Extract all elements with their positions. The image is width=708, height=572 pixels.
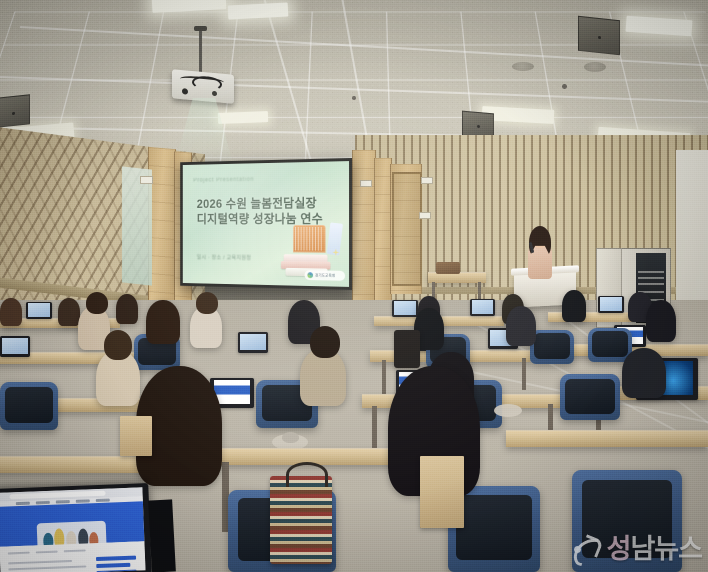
sprinkler-head <box>562 84 567 89</box>
recessed-fluorescent-light <box>218 111 268 124</box>
slide-kicker: Project Presentation <box>193 177 254 184</box>
desk <box>506 430 708 447</box>
attendee <box>116 294 138 324</box>
patterned-tote-bag <box>270 476 332 564</box>
attendee-head <box>310 326 340 358</box>
attendee <box>562 290 586 322</box>
laptop[interactable] <box>26 302 52 319</box>
wooden-box <box>436 262 460 274</box>
slide-badge-text: 경기도교육청 <box>315 273 335 278</box>
chair[interactable] <box>530 330 574 364</box>
attendee <box>646 300 676 342</box>
site-hero-banner <box>0 501 144 547</box>
laptop[interactable] <box>392 300 418 317</box>
slide-book-illustration: 경기도교육청 <box>272 221 343 279</box>
laptop[interactable] <box>598 296 624 313</box>
attendee-head <box>196 292 218 314</box>
page-icon <box>327 222 343 255</box>
projector-cable <box>192 75 222 92</box>
ceiling-vent <box>584 62 606 72</box>
mouse-pad <box>494 404 522 417</box>
desk-leg <box>372 406 377 450</box>
wall-sign <box>421 177 433 184</box>
paper-shopping-bag <box>120 416 152 456</box>
desk-leg <box>382 360 386 394</box>
glass-window <box>122 166 152 285</box>
attendee <box>146 300 180 344</box>
laptop[interactable] <box>238 332 268 353</box>
ceiling-speaker <box>0 94 30 128</box>
projector-mount-bracket <box>194 26 207 31</box>
projected-slide: Project Presentation 2026 수원 늘봄전담실장 디지털역… <box>183 161 349 287</box>
laptop-hinge-shadow <box>148 499 176 572</box>
bag-handle <box>286 462 328 487</box>
wall-sign <box>140 176 153 184</box>
wall-sign <box>360 180 372 187</box>
foreground-laptop[interactable] <box>0 483 152 572</box>
chair[interactable] <box>560 374 620 420</box>
projection-screen: Project Presentation 2026 수원 늘봄전담실장 디지털역… <box>180 158 352 290</box>
attendee-head <box>86 292 108 314</box>
slide-subtitle: 일시 · 장소 / 교육지원청 <box>197 253 252 261</box>
wood-wall-column <box>352 150 376 300</box>
attendee <box>0 298 22 326</box>
attendee <box>506 306 536 346</box>
slide-logo-badge: 경기도교육청 <box>304 270 345 281</box>
mouse[interactable] <box>282 432 299 443</box>
wall-sign <box>419 212 431 219</box>
ceiling-speaker <box>578 16 620 55</box>
chair[interactable] <box>0 382 58 430</box>
laptop-bezel <box>0 487 146 572</box>
logo-mark-icon <box>307 272 313 278</box>
open-book-icon <box>293 225 326 253</box>
laptop-screen[interactable] <box>0 487 146 572</box>
attendee <box>58 298 80 326</box>
desk-leg <box>522 358 526 390</box>
laptop[interactable] <box>470 299 495 316</box>
backpack <box>394 330 420 368</box>
wood-door-panel <box>148 147 176 309</box>
projector-mount-pole <box>199 28 202 74</box>
slide-title-line1: 2026 수원 늘봄전담실장 <box>197 195 340 212</box>
attendee <box>622 348 666 398</box>
ceiling-vent <box>512 62 534 71</box>
site-body <box>0 541 146 572</box>
photo-canvas: Project Presentation 2026 수원 늘봄전담실장 디지털역… <box>0 0 708 572</box>
paper-shopping-bag <box>420 456 464 528</box>
laptop[interactable] <box>0 336 30 357</box>
sprinkler-head <box>352 96 356 100</box>
projector-lens <box>182 88 188 95</box>
chair[interactable] <box>572 470 682 572</box>
attendee-head <box>104 330 132 360</box>
door-frame <box>392 172 422 286</box>
projector-port <box>212 91 217 96</box>
